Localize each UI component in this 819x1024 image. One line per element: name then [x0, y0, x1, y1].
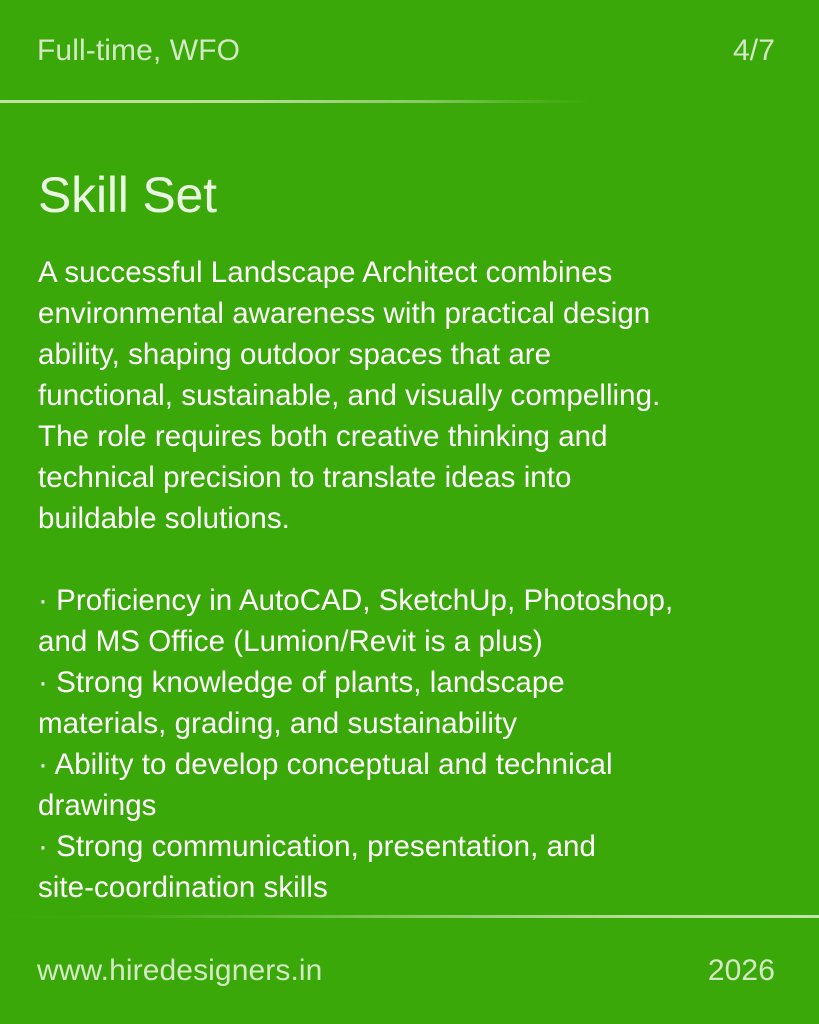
intro-line: environmental awareness with practical d… [38, 297, 650, 330]
intro-line: technical precision to translate ideas i… [38, 461, 571, 494]
intro-line: buildable solutions. [38, 502, 290, 535]
intro-paragraph: A successful Landscape Architect combine… [38, 222, 779, 539]
intro-line: A successful Landscape Architect combine… [38, 256, 612, 289]
slide-footer: www.hiredesigners.in 2026 [0, 918, 819, 1024]
bullet-dot-icon: · [38, 830, 56, 863]
list-item-line: Ability to develop conceptual and techni… [55, 748, 613, 781]
list-item-line: Strong communication, presentation, and [56, 830, 596, 863]
slide-content: Skill Set A successful Landscape Archite… [0, 101, 819, 908]
list-item-line: Strong knowledge of plants, landscape [56, 666, 565, 699]
year-label: 2026 [708, 956, 775, 986]
intro-line: functional, sustainable, and visually co… [38, 379, 660, 412]
website-url[interactable]: www.hiredesigners.in [37, 956, 322, 986]
bullet-dot-icon: · [38, 748, 55, 781]
list-item: · Proficiency in AutoCAD, SketchUp, Phot… [38, 580, 779, 662]
page-title: Skill Set [38, 101, 779, 222]
list-item: · Strong knowledge of plants, landscapem… [38, 662, 779, 744]
employment-type-label: Full-time, WFO [37, 36, 240, 66]
list-item-line: drawings [38, 789, 156, 822]
slide-card: Full-time, WFO 4/7 Skill Set A successfu… [0, 0, 819, 1024]
skills-list: · Proficiency in AutoCAD, SketchUp, Phot… [38, 539, 779, 908]
slide-header: Full-time, WFO 4/7 [0, 0, 819, 101]
list-item-line: materials, grading, and sustainability [38, 707, 517, 740]
list-item-line: and MS Office (Lumion/Revit is a plus) [38, 625, 543, 658]
intro-line: ability, shaping outdoor spaces that are [38, 338, 551, 371]
list-item: · Ability to develop conceptual and tech… [38, 744, 779, 826]
page-indicator: 4/7 [733, 36, 775, 66]
list-item-line: site-coordination skills [38, 871, 328, 904]
list-item-line: Proficiency in AutoCAD, SketchUp, Photos… [56, 584, 673, 617]
bullet-dot-icon: · [38, 584, 56, 617]
list-item: · Strong communication, presentation, an… [38, 826, 779, 908]
intro-line: The role requires both creative thinking… [38, 420, 608, 453]
bullet-dot-icon: · [38, 666, 56, 699]
